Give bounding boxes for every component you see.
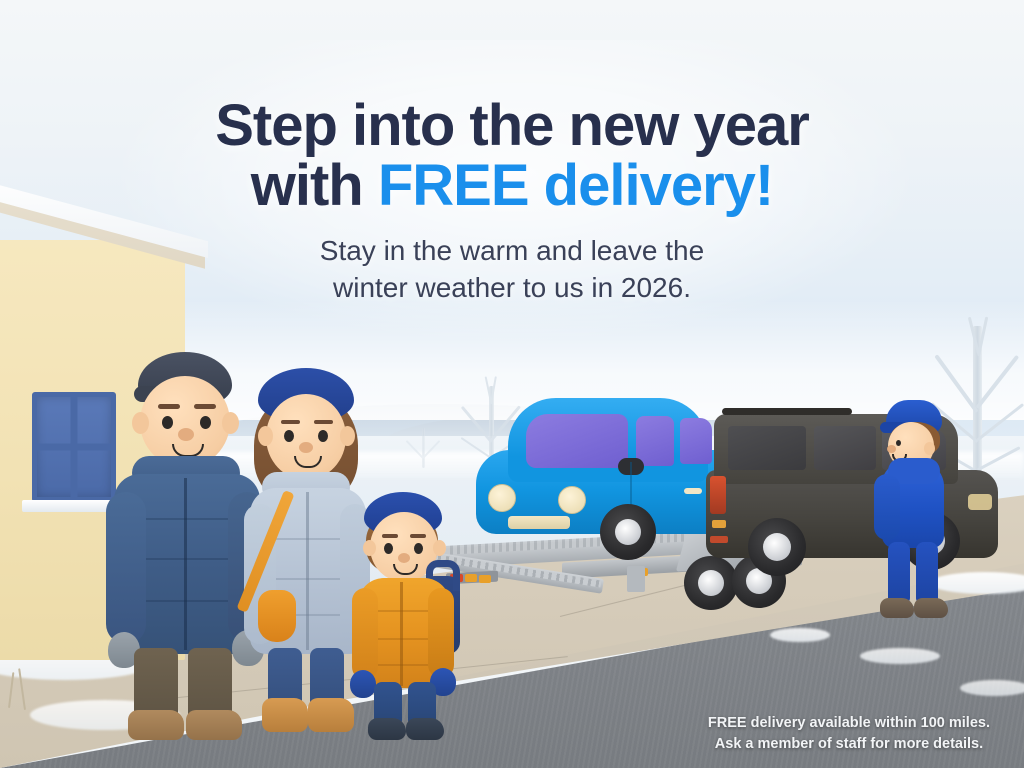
woman-ear	[340, 426, 355, 446]
page-title: Step into the new year with FREE deliver…	[0, 96, 1024, 217]
child-arm	[352, 588, 378, 680]
child-boot	[368, 718, 406, 740]
headline-line-2-prefix: with	[251, 153, 378, 218]
man-eye	[200, 416, 211, 429]
woman-handbag	[258, 590, 296, 642]
staff-arm	[874, 474, 900, 540]
man-nose	[178, 428, 194, 441]
child-brow	[410, 534, 426, 538]
staff-boot	[914, 598, 948, 618]
child-mitten	[350, 670, 376, 698]
woman-eye	[284, 430, 294, 442]
woman-nose	[299, 442, 313, 453]
promo-poster: Step into the new year with FREE deliver…	[0, 0, 1024, 768]
staff-member	[874, 400, 964, 630]
footnote: FREE delivery available within 100 miles…	[708, 713, 990, 757]
woman-boot	[262, 698, 308, 732]
woman-eye	[318, 430, 328, 442]
child-arm	[428, 588, 454, 678]
child-ear	[363, 540, 376, 556]
promo-text-block: Step into the new year with FREE deliver…	[0, 96, 1024, 307]
woman-boot	[308, 698, 354, 732]
subheading-line-2: winter weather to us in 2026.	[333, 272, 691, 303]
footnote-line-2: Ask a member of staff for more details.	[708, 734, 990, 756]
man-brow	[158, 404, 180, 409]
car-hub	[615, 519, 641, 545]
staff-leg	[916, 542, 938, 604]
child-eye	[414, 543, 423, 554]
child-brow	[382, 534, 398, 538]
winter-tree-far-left	[400, 412, 450, 466]
snow-patch	[960, 680, 1024, 696]
subheading-line-1: Stay in the warm and leave the	[320, 235, 704, 266]
child-boot	[406, 718, 444, 740]
headline-highlight: FREE delivery!	[378, 153, 773, 218]
snow-patch	[860, 648, 940, 664]
man-boot	[128, 710, 184, 740]
man-arm	[106, 492, 146, 644]
family-child	[352, 492, 472, 740]
staff-leg	[888, 542, 910, 604]
subheading: Stay in the warm and leave the winter we…	[0, 233, 1024, 307]
man-ear	[132, 412, 149, 434]
man-brow	[194, 404, 216, 409]
suv-hub	[763, 533, 791, 561]
headline-line-1: Step into the new year	[215, 93, 809, 158]
staff-boot	[880, 598, 914, 618]
staff-eye	[896, 440, 901, 446]
staff-nose	[887, 445, 896, 453]
man-boot	[186, 710, 242, 740]
child-nose	[398, 553, 410, 563]
staff-ear	[924, 442, 935, 455]
child-ear	[433, 540, 446, 556]
woman-ear	[258, 426, 273, 446]
child-eye	[384, 543, 393, 554]
woman-brow	[314, 420, 333, 424]
footnote-line-1: FREE delivery available within 100 miles…	[708, 713, 990, 735]
woman-brow	[281, 420, 300, 424]
man-eye	[162, 416, 173, 429]
house-window	[32, 392, 116, 502]
man-ear	[222, 412, 239, 434]
